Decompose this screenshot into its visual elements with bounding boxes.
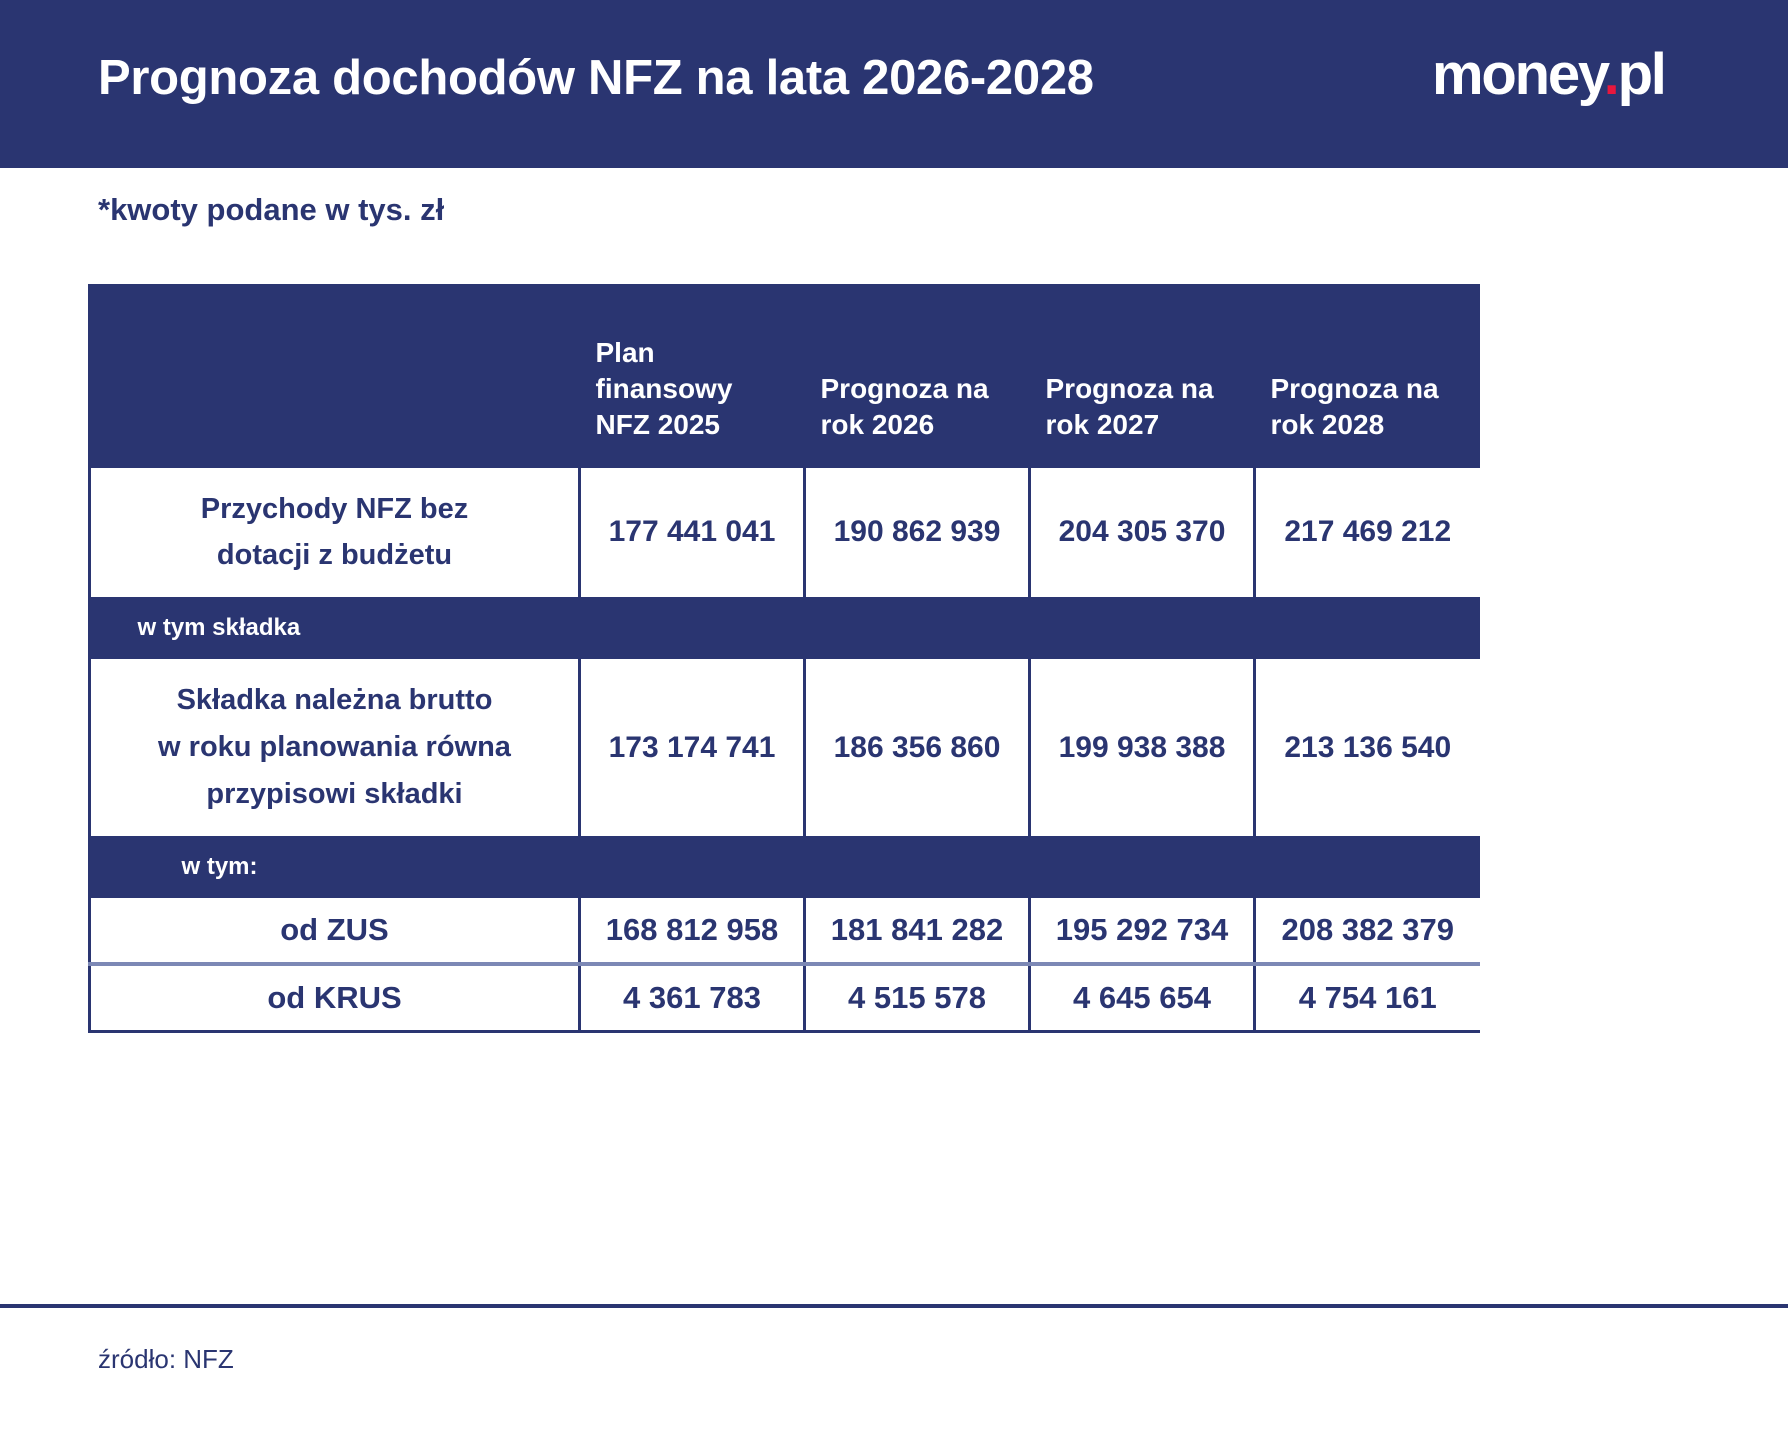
logo-dot: . xyxy=(1604,42,1618,107)
cell-zus-2027: 195 292 734 xyxy=(1030,897,1255,965)
column-header-forecast-2026-line1: Prognoza na xyxy=(821,373,989,404)
cell-krus-2028: 4 754 161 xyxy=(1255,964,1480,1032)
band-label-w-tym: w tym: xyxy=(90,838,1480,897)
cell-przychody-2025: 177 441 041 xyxy=(580,466,805,599)
column-header-plan-2025-line1: Plan finansowy xyxy=(596,337,733,404)
cell-przychody-2026: 190 862 939 xyxy=(805,466,1030,599)
table-body: Przychody NFZ bez dotacji z budżetu 177 … xyxy=(90,466,1480,1032)
forecast-table: Plan finansowy NFZ 2025 Prognoza na rok … xyxy=(88,284,1480,1033)
row-label-przychody-line2: dotacji z budżetu xyxy=(217,539,452,571)
cell-krus-2027: 4 645 654 xyxy=(1030,964,1255,1032)
row-label-przychody-line1: Przychody NFZ bez xyxy=(201,493,469,525)
cell-zus-2028: 208 382 379 xyxy=(1255,897,1480,965)
cell-przychody-2028: 217 469 212 xyxy=(1255,466,1480,599)
row-label-od-krus: od KRUS xyxy=(90,964,580,1032)
column-header-plan-2025: Plan finansowy NFZ 2025 xyxy=(580,284,805,466)
table-row: Składka należna brutto w roku planowania… xyxy=(90,658,1480,838)
units-note: *kwoty podane w tys. zł xyxy=(98,192,444,228)
column-header-forecast-2028: Prognoza na rok 2028 xyxy=(1255,284,1480,466)
band-label-w-tym-skladka: w tym składka xyxy=(90,599,1480,658)
row-label-skladka-line3: przypisowi składki xyxy=(206,778,462,810)
table-row: od KRUS 4 361 783 4 515 578 4 645 654 4 … xyxy=(90,964,1480,1032)
cell-zus-2025: 168 812 958 xyxy=(580,897,805,965)
table-header-row: Plan finansowy NFZ 2025 Prognoza na rok … xyxy=(90,284,1480,466)
column-header-forecast-2027-line2: rok 2027 xyxy=(1046,409,1160,440)
column-header-forecast-2028-line1: Prognoza na xyxy=(1271,373,1439,404)
row-label-od-zus: od ZUS xyxy=(90,897,580,965)
table-band-row: w tym składka xyxy=(90,599,1480,658)
column-header-forecast-2027: Prognoza na rok 2027 xyxy=(1030,284,1255,466)
row-label-przychody: Przychody NFZ bez dotacji z budżetu xyxy=(90,466,580,599)
logo-word-pl: pl xyxy=(1618,42,1665,107)
row-label-skladka-line2: w roku planowania równa xyxy=(158,731,511,763)
table-row: od ZUS 168 812 958 181 841 282 195 292 7… xyxy=(90,897,1480,965)
column-header-forecast-2026-line2: rok 2026 xyxy=(821,409,935,440)
column-header-forecast-2027-line1: Prognoza na xyxy=(1046,373,1214,404)
cell-skladka-2026: 186 356 860 xyxy=(805,658,1030,838)
cell-zus-2026: 181 841 282 xyxy=(805,897,1030,965)
money-pl-logo: money.pl xyxy=(1432,46,1665,104)
column-header-plan-2025-line2: NFZ 2025 xyxy=(596,409,721,440)
cell-skladka-2028: 213 136 540 xyxy=(1255,658,1480,838)
row-label-skladka-line1: Składka należna brutto xyxy=(177,684,493,716)
cell-krus-2025: 4 361 783 xyxy=(580,964,805,1032)
cell-skladka-2025: 173 174 741 xyxy=(580,658,805,838)
table-row: Przychody NFZ bez dotacji z budżetu 177 … xyxy=(90,466,1480,599)
cell-przychody-2027: 204 305 370 xyxy=(1030,466,1255,599)
table-band-row: w tym: xyxy=(90,838,1480,897)
logo-word-money: money xyxy=(1432,42,1604,107)
column-header-blank xyxy=(90,284,580,466)
infographic-page: Prognoza dochodów NFZ na lata 2026-2028 … xyxy=(0,0,1788,1440)
page-title: Prognoza dochodów NFZ na lata 2026-2028 xyxy=(98,50,1094,106)
cell-skladka-2027: 199 938 388 xyxy=(1030,658,1255,838)
footer-divider xyxy=(0,1304,1788,1308)
table-container: Plan finansowy NFZ 2025 Prognoza na rok … xyxy=(88,284,1478,1033)
table-header: Plan finansowy NFZ 2025 Prognoza na rok … xyxy=(90,284,1480,466)
column-header-forecast-2028-line2: rok 2028 xyxy=(1271,409,1385,440)
row-label-skladka: Składka należna brutto w roku planowania… xyxy=(90,658,580,838)
header-bar: Prognoza dochodów NFZ na lata 2026-2028 … xyxy=(0,0,1788,168)
cell-krus-2026: 4 515 578 xyxy=(805,964,1030,1032)
source-note: źródło: NFZ xyxy=(98,1344,234,1375)
column-header-forecast-2026: Prognoza na rok 2026 xyxy=(805,284,1030,466)
